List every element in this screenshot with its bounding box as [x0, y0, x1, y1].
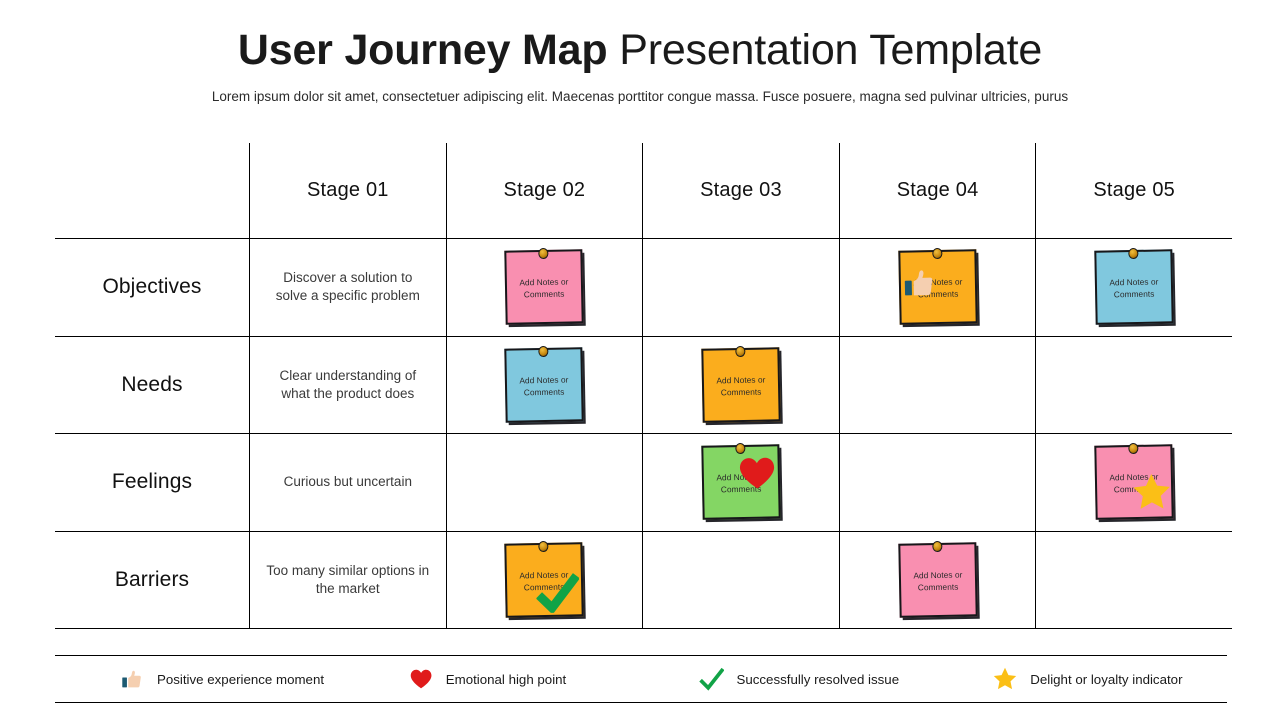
- matrix-cell[interactable]: [446, 434, 643, 532]
- note-wrapper: Add Notes or Comments: [840, 532, 1036, 629]
- stage-header-3[interactable]: Stage 03: [643, 143, 840, 239]
- pin-icon: [1128, 443, 1138, 454]
- sticky-note-text: Add Notes or Comments: [900, 569, 974, 593]
- pin-icon: [539, 541, 549, 552]
- row-header-barriers[interactable]: Barriers: [55, 531, 250, 629]
- matrix-cell[interactable]: Add Notes or Comments: [839, 239, 1036, 337]
- page-title-bold: User Journey Map: [238, 26, 608, 74]
- table-row: BarriersToo many similar options in the …: [55, 531, 1232, 629]
- page-title-light: Presentation Template: [607, 26, 1042, 74]
- sticky-note[interactable]: Add Notes or Comments: [701, 347, 780, 422]
- matrix-cell[interactable]: [1036, 336, 1232, 434]
- matrix-cell[interactable]: Add Notes or Comments: [1036, 434, 1232, 532]
- note-wrapper: Add Notes or Comments: [643, 434, 839, 531]
- check-icon: [698, 665, 726, 693]
- note-wrapper: Add Notes or Comments: [447, 532, 643, 629]
- legend-item: Emotional high point: [354, 665, 643, 693]
- legend-item-label: Positive experience moment: [157, 672, 324, 687]
- sticky-note-text: Add Notes or Comments: [900, 277, 974, 301]
- cell-text: Too many similar options in the market: [250, 562, 446, 598]
- sticky-note-text: Add Notes or Comments: [507, 374, 581, 398]
- legend-item-label: Successfully resolved issue: [737, 672, 900, 687]
- matrix-cell[interactable]: Clear understanding of what the product …: [250, 336, 447, 434]
- note-wrapper: Add Notes or Comments: [840, 239, 1036, 336]
- matrix-corner-cell: [55, 143, 250, 239]
- pin-icon: [539, 248, 549, 259]
- legend-item: Successfully resolved issue: [643, 665, 934, 693]
- page-subtitle: Lorem ipsum dolor sit amet, consectetuer…: [0, 89, 1280, 104]
- matrix-cell[interactable]: [643, 239, 840, 337]
- slide-header: User Journey Map Presentation Template L…: [0, 0, 1280, 104]
- note-wrapper: Add Notes or Comments: [447, 337, 643, 434]
- note-wrapper: Add Notes or Comments: [1036, 239, 1232, 336]
- sticky-note[interactable]: Add Notes or Comments: [898, 542, 977, 617]
- matrix-cell[interactable]: Add Notes or Comments: [1036, 239, 1232, 337]
- matrix-cell[interactable]: [839, 434, 1036, 532]
- table-row: FeelingsCurious but uncertainAdd Notes o…: [55, 434, 1232, 532]
- sticky-note-text: Add Notes or Comments: [704, 374, 778, 398]
- star-icon: [991, 665, 1019, 693]
- thumbs-up-icon: [118, 665, 146, 693]
- matrix-cell[interactable]: Add Notes or Comments: [839, 531, 1036, 629]
- row-header-feelings[interactable]: Feelings: [55, 434, 250, 532]
- sticky-note[interactable]: Add Notes or Comments: [505, 347, 584, 422]
- cell-text: Curious but uncertain: [250, 473, 446, 491]
- legend-item-label: Emotional high point: [446, 672, 567, 687]
- stage-header-label: Stage 03: [643, 179, 839, 202]
- matrix-cell[interactable]: [1036, 531, 1232, 629]
- legend-item: Positive experience moment: [55, 665, 354, 693]
- cell-text: Clear understanding of what the product …: [250, 367, 446, 403]
- stage-header-label: Stage 01: [250, 179, 446, 202]
- stage-header-label: Stage 04: [840, 179, 1036, 202]
- row-header-label: Barriers: [55, 568, 249, 592]
- matrix-cell[interactable]: [839, 336, 1036, 434]
- row-header-label: Feelings: [55, 470, 249, 494]
- row-header-label: Needs: [55, 373, 249, 397]
- pin-icon: [932, 248, 942, 259]
- page-title: User Journey Map Presentation Template: [0, 28, 1280, 73]
- legend-item: Delight or loyalty indicator: [933, 665, 1227, 693]
- matrix-cell[interactable]: Add Notes or Comments: [446, 239, 643, 337]
- matrix-cell[interactable]: Curious but uncertain: [250, 434, 447, 532]
- sticky-note[interactable]: Add Notes or Comments: [898, 250, 977, 325]
- sticky-note-text: Add Notes or Comments: [704, 472, 778, 496]
- row-header-label: Objectives: [55, 275, 249, 299]
- sticky-note-text: Add Notes or Comments: [1097, 472, 1171, 496]
- sticky-note[interactable]: Add Notes or Comments: [505, 250, 584, 325]
- table-row: ObjectivesDiscover a solution to solve a…: [55, 239, 1232, 337]
- note-wrapper: Add Notes or Comments: [447, 239, 643, 336]
- stage-header-4[interactable]: Stage 04: [839, 143, 1036, 239]
- note-wrapper: Add Notes or Comments: [1036, 434, 1232, 531]
- pin-icon: [735, 443, 745, 454]
- sticky-note[interactable]: Add Notes or Comments: [1094, 250, 1173, 325]
- matrix-cell[interactable]: Add Notes or Comments: [643, 336, 840, 434]
- row-header-objectives[interactable]: Objectives: [55, 239, 250, 337]
- matrix-cell[interactable]: Discover a solution to solve a specific …: [250, 239, 447, 337]
- sticky-note[interactable]: Add Notes or Comments: [701, 445, 780, 520]
- pin-icon: [539, 346, 549, 357]
- stage-header-label: Stage 05: [1036, 179, 1232, 202]
- matrix-cell[interactable]: [643, 531, 840, 629]
- table-header-row: Stage 01Stage 02Stage 03Stage 04Stage 05: [55, 143, 1232, 239]
- sticky-note-text: Add Notes or Comments: [507, 277, 581, 301]
- stage-header-2[interactable]: Stage 02: [446, 143, 643, 239]
- note-wrapper: Add Notes or Comments: [643, 337, 839, 434]
- pin-icon: [932, 541, 942, 552]
- sticky-note[interactable]: Add Notes or Comments: [1094, 445, 1173, 520]
- journey-map-matrix: Stage 01Stage 02Stage 03Stage 04Stage 05…: [55, 143, 1227, 624]
- matrix-cell[interactable]: Too many similar options in the market: [250, 531, 447, 629]
- legend: Positive experience momentEmotional high…: [55, 655, 1227, 703]
- journey-table: Stage 01Stage 02Stage 03Stage 04Stage 05…: [55, 143, 1232, 629]
- matrix-cell[interactable]: Add Notes or Comments: [446, 531, 643, 629]
- stage-header-label: Stage 02: [447, 179, 643, 202]
- pin-icon: [735, 346, 745, 357]
- pin-icon: [1128, 248, 1138, 259]
- sticky-note[interactable]: Add Notes or Comments: [505, 542, 584, 617]
- sticky-note-text: Add Notes or Comments: [1097, 277, 1171, 301]
- cell-text: Discover a solution to solve a specific …: [250, 269, 446, 305]
- legend-item-label: Delight or loyalty indicator: [1030, 672, 1182, 687]
- matrix-cell[interactable]: Add Notes or Comments: [446, 336, 643, 434]
- matrix-cell[interactable]: Add Notes or Comments: [643, 434, 840, 532]
- heart-icon: [407, 665, 435, 693]
- stage-header-5[interactable]: Stage 05: [1036, 143, 1232, 239]
- table-row: NeedsClear understanding of what the pro…: [55, 336, 1232, 434]
- row-header-needs[interactable]: Needs: [55, 336, 250, 434]
- sticky-note-text: Add Notes or Comments: [507, 569, 581, 593]
- stage-header-1[interactable]: Stage 01: [250, 143, 447, 239]
